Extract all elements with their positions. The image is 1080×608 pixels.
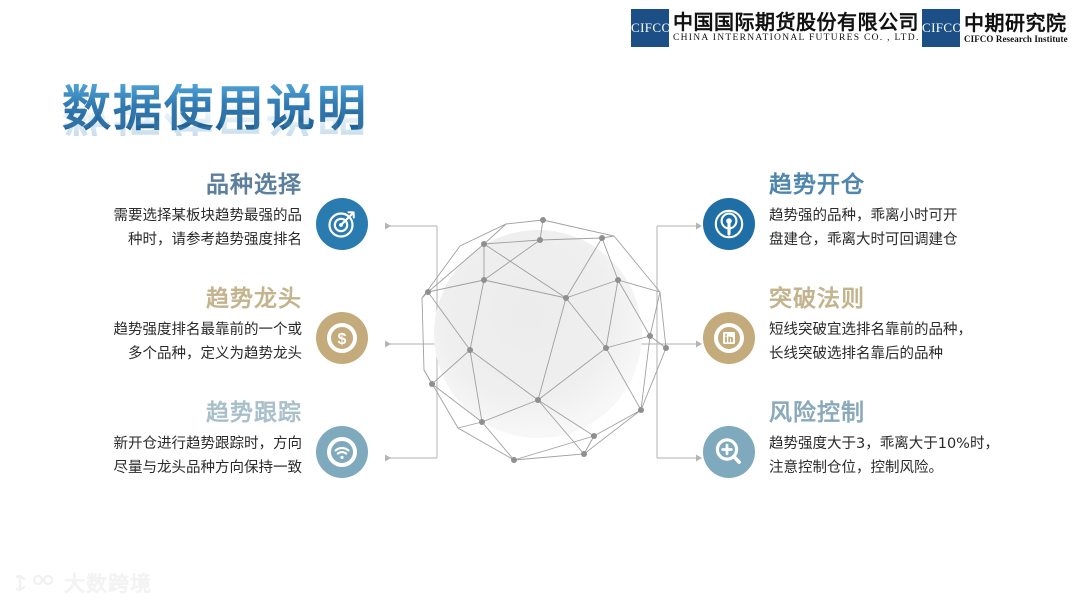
item-kaicang-body-line-1: 趋势强的品种，乖离小时可开: [769, 205, 1027, 228]
company-name-en: CHINA INTERNATIONAL FUTURES CO. , LTD.: [673, 34, 920, 44]
broadcast-icon[interactable]: [703, 198, 755, 250]
target-icon[interactable]: [316, 198, 368, 250]
slide-canvas: CIFCO 中国国际期货股份有限公司 CHINA INTERNATIONAL F…: [0, 0, 1080, 608]
slide-header: CIFCO 中国国际期货股份有限公司 CHINA INTERNATIONAL F…: [0, 0, 1080, 56]
company-logo-institute-text: 中期研究院 CIFCO Research Institute: [964, 13, 1068, 44]
watermark-logo-icon: [16, 572, 58, 594]
item-pinzhong-text: 品种选择 需要选择某板块趋势最强的品 种时，请参考趋势强度排名: [44, 172, 302, 252]
item-tupo-faze[interactable]: 突破法则 短线突破宜选排名靠前的品种， 长线突破选排名靠后的品种: [703, 286, 1027, 366]
wifi-icon[interactable]: [316, 426, 368, 478]
page-title-reflection: 数据使用说明: [62, 87, 368, 136]
cifco-institute-logo-mark-text: CIFCO: [922, 20, 960, 36]
item-fengxian-body: 趋势强度大于3，乖离大于10%时， 注意控制仓位，控制风险。: [769, 433, 1027, 480]
item-longtou-body-line-1: 趋势强度排名最靠前的一个或: [44, 319, 302, 342]
item-qushi-genzong[interactable]: 趋势跟踪 新开仓进行趋势跟踪时，方向 尽量与龙头品种方向保持一致: [44, 400, 368, 480]
institute-name-en: CIFCO Research Institute: [964, 35, 1068, 44]
item-genzong-body-line-1: 新开仓进行趋势跟踪时，方向: [44, 433, 302, 456]
item-pinzhong-body-line-2: 种时，请参考趋势强度排名: [44, 229, 302, 252]
item-tupo-body-line-1: 短线突破宜选排名靠前的品种，: [769, 319, 1027, 342]
company-name-cn: 中国国际期货股份有限公司: [673, 12, 920, 32]
company-logo-main: CIFCO 中国国际期货股份有限公司 CHINA INTERNATIONAL F…: [631, 9, 920, 47]
item-pinzhong-xuanze[interactable]: 品种选择 需要选择某板块趋势最强的品 种时，请参考趋势强度排名: [44, 172, 368, 252]
item-genzong-text: 趋势跟踪 新开仓进行趋势跟踪时，方向 尽量与龙头品种方向保持一致: [44, 400, 302, 480]
dollar-coin-icon[interactable]: $: [316, 312, 368, 364]
cifco-logo-mark-text: CIFCO: [631, 20, 669, 36]
institute-name-cn: 中期研究院: [964, 13, 1068, 33]
item-fengxian-heading: 风险控制: [769, 400, 1027, 426]
watermark: 大数跨境: [16, 568, 152, 598]
item-longtou-body: 趋势强度排名最靠前的一个或 多个品种，定义为趋势龙头: [44, 319, 302, 366]
item-genzong-body: 新开仓进行趋势跟踪时，方向 尽量与龙头品种方向保持一致: [44, 433, 302, 480]
svg-text:$: $: [338, 331, 347, 348]
item-kaicang-text: 趋势开仓 趋势强的品种，乖离小时可开 盘建仓，乖离大时可回调建仓: [769, 172, 1027, 252]
item-longtou-text: 趋势龙头 趋势强度排名最靠前的一个或 多个品种，定义为趋势龙头: [44, 286, 302, 366]
linkedin-icon[interactable]: [703, 312, 755, 364]
item-fengxian-text: 风险控制 趋势强度大于3，乖离大于10%时， 注意控制仓位，控制风险。: [769, 400, 1027, 480]
item-tupo-body-line-2: 长线突破选排名靠后的品种: [769, 343, 1027, 366]
polygonal-sphere-graphic: [398, 188, 688, 484]
company-logo-institute: CIFCO 中期研究院 CIFCO Research Institute: [922, 9, 1068, 47]
cifco-logo-mark: CIFCO: [631, 9, 669, 47]
item-qushi-kaicang[interactable]: 趋势开仓 趋势强的品种，乖离小时可开 盘建仓，乖离大时可回调建仓: [703, 172, 1027, 252]
cifco-institute-logo-mark: CIFCO: [922, 9, 960, 47]
item-genzong-body-line-2: 尽量与龙头品种方向保持一致: [44, 457, 302, 480]
item-pinzhong-body: 需要选择某板块趋势最强的品 种时，请参考趋势强度排名: [44, 205, 302, 252]
item-qushi-longtou[interactable]: 趋势龙头 趋势强度排名最靠前的一个或 多个品种，定义为趋势龙头 $: [44, 286, 368, 366]
zoom-in-icon[interactable]: [703, 426, 755, 478]
item-fengxian-body-line-1: 趋势强度大于3，乖离大于10%时，: [769, 433, 1027, 456]
item-longtou-heading: 趋势龙头: [44, 286, 302, 312]
item-fengxian-body-line-2: 注意控制仓位，控制风险。: [769, 457, 1027, 480]
item-kaicang-body: 趋势强的品种，乖离小时可开 盘建仓，乖离大时可回调建仓: [769, 205, 1027, 252]
item-kaicang-heading: 趋势开仓: [769, 172, 1027, 198]
item-tupo-heading: 突破法则: [769, 286, 1027, 312]
item-pinzhong-body-line-1: 需要选择某板块趋势最强的品: [44, 205, 302, 228]
item-tupo-text: 突破法则 短线突破宜选排名靠前的品种， 长线突破选排名靠后的品种: [769, 286, 1027, 366]
watermark-text: 大数跨境: [64, 568, 152, 598]
company-logo-main-text: 中国国际期货股份有限公司 CHINA INTERNATIONAL FUTURES…: [673, 12, 920, 44]
item-pinzhong-heading: 品种选择: [44, 172, 302, 198]
item-longtou-body-line-2: 多个品种，定义为趋势龙头: [44, 343, 302, 366]
item-kaicang-body-line-2: 盘建仓，乖离大时可回调建仓: [769, 229, 1027, 252]
item-tupo-body: 短线突破宜选排名靠前的品种， 长线突破选排名靠后的品种: [769, 319, 1027, 366]
item-fengxian-kongzhi[interactable]: 风险控制 趋势强度大于3，乖离大于10%时， 注意控制仓位，控制风险。: [703, 400, 1027, 480]
item-genzong-heading: 趋势跟踪: [44, 400, 302, 426]
